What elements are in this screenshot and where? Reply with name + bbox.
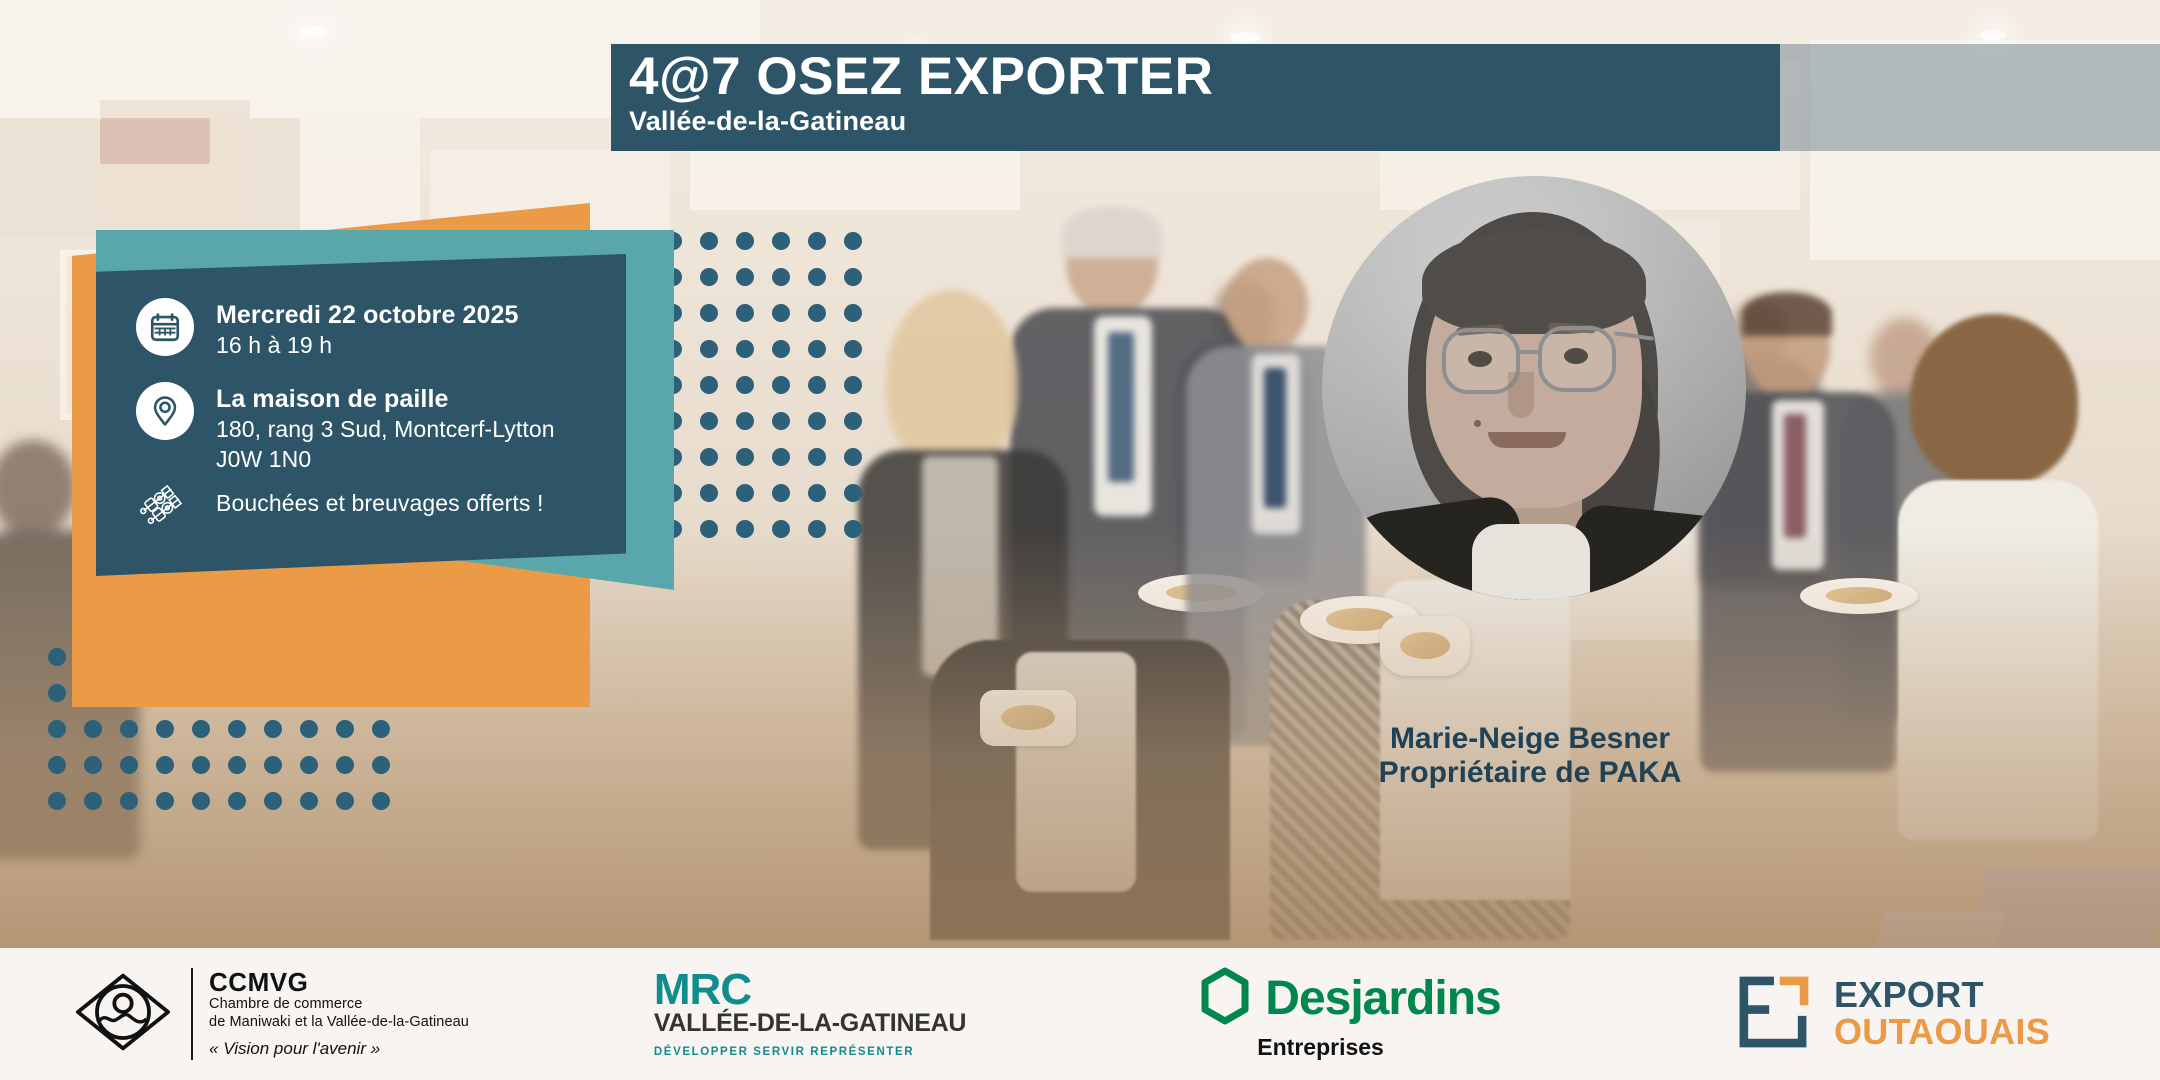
decorative-dot (772, 484, 790, 502)
decorative-dot (156, 792, 174, 810)
decorative-dot (844, 484, 862, 502)
decorative-dot (844, 448, 862, 466)
speaker-portrait (1322, 176, 1746, 600)
decorative-dot (808, 412, 826, 430)
decorative-dot (772, 520, 790, 538)
sponsor-desjardins: Desjardins Entreprises (1080, 948, 1620, 1080)
decorative-dot (336, 792, 354, 810)
desjardins-sub: Entreprises (1257, 1034, 1384, 1061)
decorative-dot (772, 232, 790, 250)
decorative-dot (736, 484, 754, 502)
decorative-dot (84, 756, 102, 774)
export-line1: EXPORT (1834, 977, 2050, 1014)
calendar-icon (136, 298, 194, 356)
sponsor-mrc: MRC VALLÉE-DE-LA-GATINEAU DÉVELOPPER SER… (540, 948, 1080, 1080)
decorative-dot (228, 720, 246, 738)
decorative-dot (84, 792, 102, 810)
event-details-card: Mercredi 22 octobre 2025 16 h à 19 h La … (96, 254, 626, 576)
decorative-dot (192, 756, 210, 774)
decorative-dot (48, 792, 66, 810)
decorative-dot (264, 720, 282, 738)
decorative-dot (736, 448, 754, 466)
speaker-role: Propriétaire de PAKA (1320, 756, 1740, 790)
event-subtitle: Vallée-de-la-Gatineau (629, 107, 1780, 137)
decorative-dot (300, 792, 318, 810)
decorative-dot (736, 412, 754, 430)
decorative-dot (844, 304, 862, 322)
decorative-dot (84, 720, 102, 738)
decorative-dot (772, 448, 790, 466)
decorative-dot (156, 756, 174, 774)
decorative-dot (48, 720, 66, 738)
sponsor-export-outaouais: EXPORT OUTAOUAIS (1620, 948, 2160, 1080)
decorative-dot (736, 340, 754, 358)
decorative-dot (808, 520, 826, 538)
decorative-dot (772, 340, 790, 358)
decorative-dot (736, 376, 754, 394)
decorative-dot (264, 756, 282, 774)
ccmvg-line1: Chambre de commerce (209, 996, 469, 1014)
decorative-dot (48, 648, 66, 666)
ccmvg-tagline: « Vision pour l'avenir » (209, 1039, 469, 1059)
decorative-dot (772, 268, 790, 286)
ccmvg-line2: de Maniwaki et la Vallée-de-la-Gatineau (209, 1014, 469, 1032)
decorative-dot (120, 756, 138, 774)
sponsor-footer: CCMVG Chambre de commerce de Maniwaki et… (0, 948, 2160, 1080)
decorative-dot (844, 412, 862, 430)
decorative-dot (48, 756, 66, 774)
decorative-dot (228, 792, 246, 810)
decorative-dot (736, 232, 754, 250)
decorative-dot (808, 232, 826, 250)
decorative-dot (192, 720, 210, 738)
decorative-dot (844, 232, 862, 250)
decorative-dot (372, 720, 390, 738)
decorative-dot (808, 304, 826, 322)
decorative-dot (336, 756, 354, 774)
venue-postal-code: J0W 1N0 (216, 445, 555, 475)
mrc-tagline: DÉVELOPPER SERVIR REPRÉSENTER (654, 1046, 914, 1058)
decorative-dot (736, 268, 754, 286)
decorative-dot (372, 792, 390, 810)
decorative-dot (372, 756, 390, 774)
decorative-dot (808, 448, 826, 466)
decorative-dot (192, 792, 210, 810)
title-banner: 4@7 OSEZ EXPORTER Vallée-de-la-Gatineau (611, 44, 1780, 151)
decorative-dot (700, 484, 718, 502)
export-square-icon (1730, 969, 1816, 1060)
decorative-dot (736, 520, 754, 538)
decorative-dot (844, 340, 862, 358)
hexagon-icon (1199, 967, 1251, 1030)
mrc-name: VALLÉE-DE-LA-GATINEAU (654, 1010, 966, 1038)
decorative-dot (700, 520, 718, 538)
decorative-dot (808, 376, 826, 394)
map-pin-icon (136, 382, 194, 440)
decorative-dot (700, 376, 718, 394)
mrc-abbrev: MRC (654, 970, 751, 1010)
decorative-dot (228, 756, 246, 774)
decorative-dot (700, 412, 718, 430)
catering-note: Bouchées et breuvages offerts ! (216, 477, 543, 519)
eye-landscape-icon (71, 968, 175, 1061)
venue-name: La maison de paille (216, 384, 555, 415)
event-time: 16 h à 19 h (216, 331, 519, 361)
event-location-row: La maison de paille 180, rang 3 Sud, Mon… (136, 382, 555, 475)
event-poster: 4@7 OSEZ EXPORTER Vallée-de-la-Gatineau … (0, 0, 2160, 1080)
venue-address: 180, rang 3 Sud, Montcerf-Lytton (216, 415, 555, 445)
decorative-dot (808, 340, 826, 358)
export-line2: OUTAOUAIS (1834, 1014, 2050, 1051)
decorative-dot (48, 684, 66, 702)
decorative-dot (772, 412, 790, 430)
decorative-dot (336, 720, 354, 738)
decorative-dot (700, 304, 718, 322)
banner-extension (1780, 44, 2160, 151)
decorative-dot (772, 376, 790, 394)
canape-skewer-icon (136, 475, 194, 533)
decorative-dot (700, 268, 718, 286)
speaker-name: Marie-Neige Besner (1320, 722, 1740, 756)
decorative-dot (264, 792, 282, 810)
decorative-dot (156, 720, 174, 738)
decorative-dot (844, 520, 862, 538)
event-date: Mercredi 22 octobre 2025 (216, 300, 519, 331)
decorative-dot (808, 484, 826, 502)
event-title: 4@7 OSEZ EXPORTER (629, 50, 1780, 104)
decorative-dot (772, 304, 790, 322)
decorative-dot (120, 720, 138, 738)
desjardins-name: Desjardins (1265, 975, 1500, 1023)
decorative-dot (700, 340, 718, 358)
ccmvg-abbrev: CCMVG (209, 969, 469, 996)
event-date-row: Mercredi 22 octobre 2025 16 h à 19 h (136, 298, 519, 361)
decorative-dot (808, 268, 826, 286)
decorative-dot (300, 720, 318, 738)
decorative-dot (700, 448, 718, 466)
speaker-caption: Marie-Neige Besner Propriétaire de PAKA (1320, 722, 1740, 790)
sponsor-ccmvg: CCMVG Chambre de commerce de Maniwaki et… (0, 948, 540, 1080)
decorative-dot (736, 304, 754, 322)
decorative-dot (300, 756, 318, 774)
decorative-dot (120, 792, 138, 810)
decorative-dot (844, 376, 862, 394)
decorative-dot (700, 232, 718, 250)
decorative-dot (844, 268, 862, 286)
event-catering-row: Bouchées et breuvages offerts ! (136, 475, 543, 533)
